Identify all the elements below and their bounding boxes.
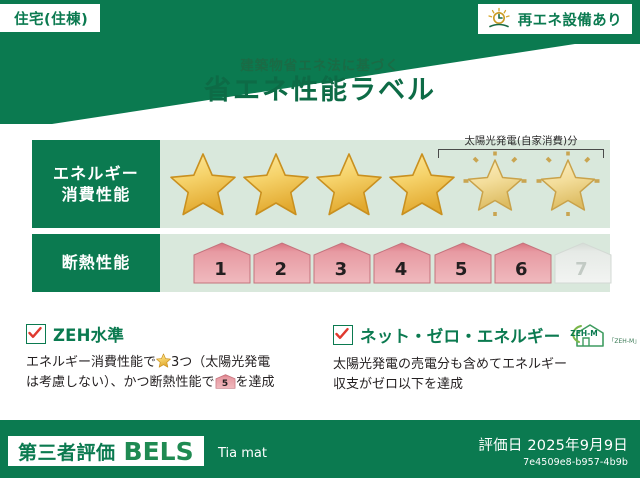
energy-label-line2: 消費性能 — [62, 184, 131, 205]
zeh-desc-part1: エネルギー消費性能で — [26, 355, 156, 370]
insulation-level-1: 1 — [192, 241, 249, 285]
insulation-label-text: 断熱性能 — [62, 252, 131, 273]
bels-third-party-label: 第三者評価 — [18, 438, 116, 465]
net-zero-energy-title: ネット・ゼロ・エネルギー — [360, 323, 560, 347]
footer-meta: 評価日 2025年9月9日 7e4509e8-b957-4b9b — [478, 434, 628, 468]
insulation-level-7: 7 — [553, 241, 610, 285]
zeh-standard-description: エネルギー消費性能で 3つ（太陽光発電 は考慮しない）、かつ断熱性能で 5を達成 — [26, 353, 311, 393]
document-type-label: 住宅(住棟) — [14, 8, 88, 29]
zeh-m-house-icon: ZEH-M — [567, 322, 607, 348]
title-subtitle: 建築物省エネ法に基づく — [0, 54, 640, 74]
insulation-level-2: 2 — [252, 241, 309, 285]
insulation-level-4: 4 — [372, 241, 429, 285]
insulation-level-5-number: 5 — [455, 261, 468, 285]
zeh-desc-part2: は考慮しない）、かつ断熱性能で — [26, 375, 215, 390]
star-2 — [239, 145, 312, 223]
insulation-level-5: 5 — [433, 241, 490, 285]
document-type-chip: 住宅(住棟) — [0, 4, 100, 32]
inline-house-icon: 5 — [215, 374, 236, 389]
insulation-level-3: 3 — [312, 241, 369, 285]
bels-badge: 第三者評価 BELS — [8, 436, 204, 466]
zeh-m-caption: 「ZEH-M」 — [608, 336, 640, 348]
achievement-nze-header: ネット・ゼロ・エネルギー ZEH-M 「ZEH-M」 — [333, 322, 618, 348]
star-3 — [312, 145, 385, 223]
bels-logo-text: BELS — [124, 437, 194, 466]
nze-desc-line2: 収支がゼロ以下を達成 — [333, 377, 463, 392]
nze-desc-line1: 太陽光発電の売電分も含めてエネルギー — [333, 357, 567, 372]
net-zero-energy-checkbox[interactable] — [333, 325, 353, 345]
star-6-solar — [531, 145, 604, 223]
renewable-equipment-label: 再エネ設備あり — [518, 9, 622, 30]
insulation-performance-label: 断熱性能 — [32, 234, 160, 292]
star-1 — [166, 145, 239, 223]
svg-text:ZEH-M: ZEH-M — [571, 329, 598, 338]
document-id: 7e4509e8-b957-4b9b — [478, 457, 628, 468]
insulation-level-1-number: 1 — [214, 261, 227, 285]
sun-icon — [486, 7, 512, 31]
evaluation-date-value: 2025年9月9日 — [527, 438, 628, 454]
page-title: 省エネ性能ラベル — [0, 76, 640, 106]
evaluation-date-label: 評価日 — [478, 438, 522, 454]
zeh-standard-title: ZEH水準 — [53, 322, 124, 346]
zeh-standard-checkbox[interactable] — [26, 324, 46, 344]
insulation-performance-row: 断熱性能 — [32, 234, 610, 292]
insulation-level-6: 6 — [493, 241, 550, 285]
achievements-area: ZEH水準 エネルギー消費性能で 3つ（太陽光発電 は考慮しない）、かつ断熱性能… — [26, 322, 618, 395]
insulation-level-4-number: 4 — [395, 261, 408, 285]
energy-performance-label: エネルギー 消費性能 — [32, 140, 160, 228]
star-rating — [160, 140, 610, 228]
net-zero-energy-description: 太陽光発電の売電分も含めてエネルギー 収支がゼロ以下を達成 — [333, 355, 618, 395]
insulation-level-7-number: 7 — [575, 261, 588, 285]
energy-label-line1: エネルギー — [53, 163, 139, 184]
renewable-equipment-badge: 再エネ設備あり — [478, 4, 632, 34]
star-4 — [385, 145, 458, 223]
energy-performance-label: 住宅(住棟) 再エネ設備あり 建築物省エネ法に基づく 省エネ性能ラベル — [0, 0, 640, 478]
insulation-level-scale: 1 2 3 — [160, 234, 610, 292]
energy-performance-row: エネルギー 消費性能 — [32, 140, 610, 228]
insulation-level-6-number: 6 — [515, 261, 528, 285]
rating-rows: エネルギー 消費性能 — [32, 140, 610, 298]
zeh-desc-part3: を達成 — [236, 375, 275, 390]
evaluation-date: 評価日 2025年9月9日 — [478, 434, 628, 455]
insulation-level-2-number: 2 — [274, 261, 287, 285]
inline-house-number: 5 — [215, 380, 236, 389]
insulation-level-3-number: 3 — [335, 261, 348, 285]
star-5-solar — [458, 145, 531, 223]
owner-name: Tia mat — [218, 446, 267, 461]
inline-star-icon — [156, 353, 171, 368]
achievement-zeh-header: ZEH水準 — [26, 322, 311, 346]
label-title-block: 建築物省エネ法に基づく 省エネ性能ラベル — [0, 54, 640, 106]
zeh-desc-star-count: 3つ（太陽光発電 — [171, 355, 270, 370]
energy-performance-stars-panel: 太陽光発電(自家消費)分 — [160, 140, 610, 228]
zeh-m-logo: ZEH-M 「ZEH-M」 — [567, 322, 640, 348]
insulation-levels-panel: 1 2 3 — [160, 234, 610, 292]
achievement-net-zero-energy: ネット・ゼロ・エネルギー ZEH-M 「ZEH-M」 太陽光発電の売電分も含めて… — [333, 322, 618, 395]
achievement-zeh-standard: ZEH水準 エネルギー消費性能で 3つ（太陽光発電 は考慮しない）、かつ断熱性能… — [26, 322, 311, 395]
